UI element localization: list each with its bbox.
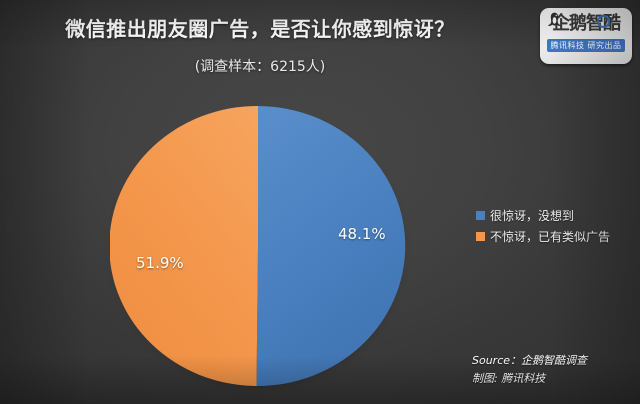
logo-accent-dot — [597, 15, 610, 28]
legend-label-not-surprised: 不惊讶，已有类似广告 — [490, 230, 610, 244]
legend-label-very-surprised: 很惊讶，没想到 — [490, 209, 574, 223]
source-line: Source：企鹅智酷调查 — [472, 352, 640, 370]
pie-label-orange: 51.9% — [136, 254, 184, 272]
chart-subtitle: (调查样本：6215人) — [0, 57, 520, 77]
pie-slice-orange[interactable] — [110, 106, 258, 386]
page-title: 微信推出朋友圈广告，是否让你感到惊讶？ — [0, 16, 520, 42]
brand-logo: 企鹅智酷 腾讯科技 研究出品 — [540, 8, 632, 64]
chart-legend: 很惊讶，没想到 不惊讶，已有类似广告 — [476, 205, 636, 247]
legend-item-very-surprised[interactable]: 很惊讶，没想到 — [476, 205, 636, 226]
legend-swatch-orange — [476, 232, 485, 241]
penguin-icon — [548, 12, 561, 28]
legend-swatch-blue — [476, 211, 485, 220]
author-line: 制图: 腾讯科技 — [472, 370, 640, 388]
pie-chart: 48.1% 51.9% — [110, 106, 406, 386]
pie-slice-blue[interactable] — [257, 106, 406, 386]
logo-banner: 腾讯科技 研究出品 — [547, 39, 625, 52]
pie-label-blue: 48.1% — [338, 225, 386, 243]
chart-screenshot: 微信推出朋友圈广告，是否让你感到惊讶？ (调查样本：6215人) 企鹅智酷 腾讯… — [0, 0, 640, 404]
credit-block: Source：企鹅智酷调查 制图: 腾讯科技 — [472, 352, 640, 388]
pie-slices — [110, 106, 406, 386]
legend-item-not-surprised[interactable]: 不惊讶，已有类似广告 — [476, 226, 636, 247]
